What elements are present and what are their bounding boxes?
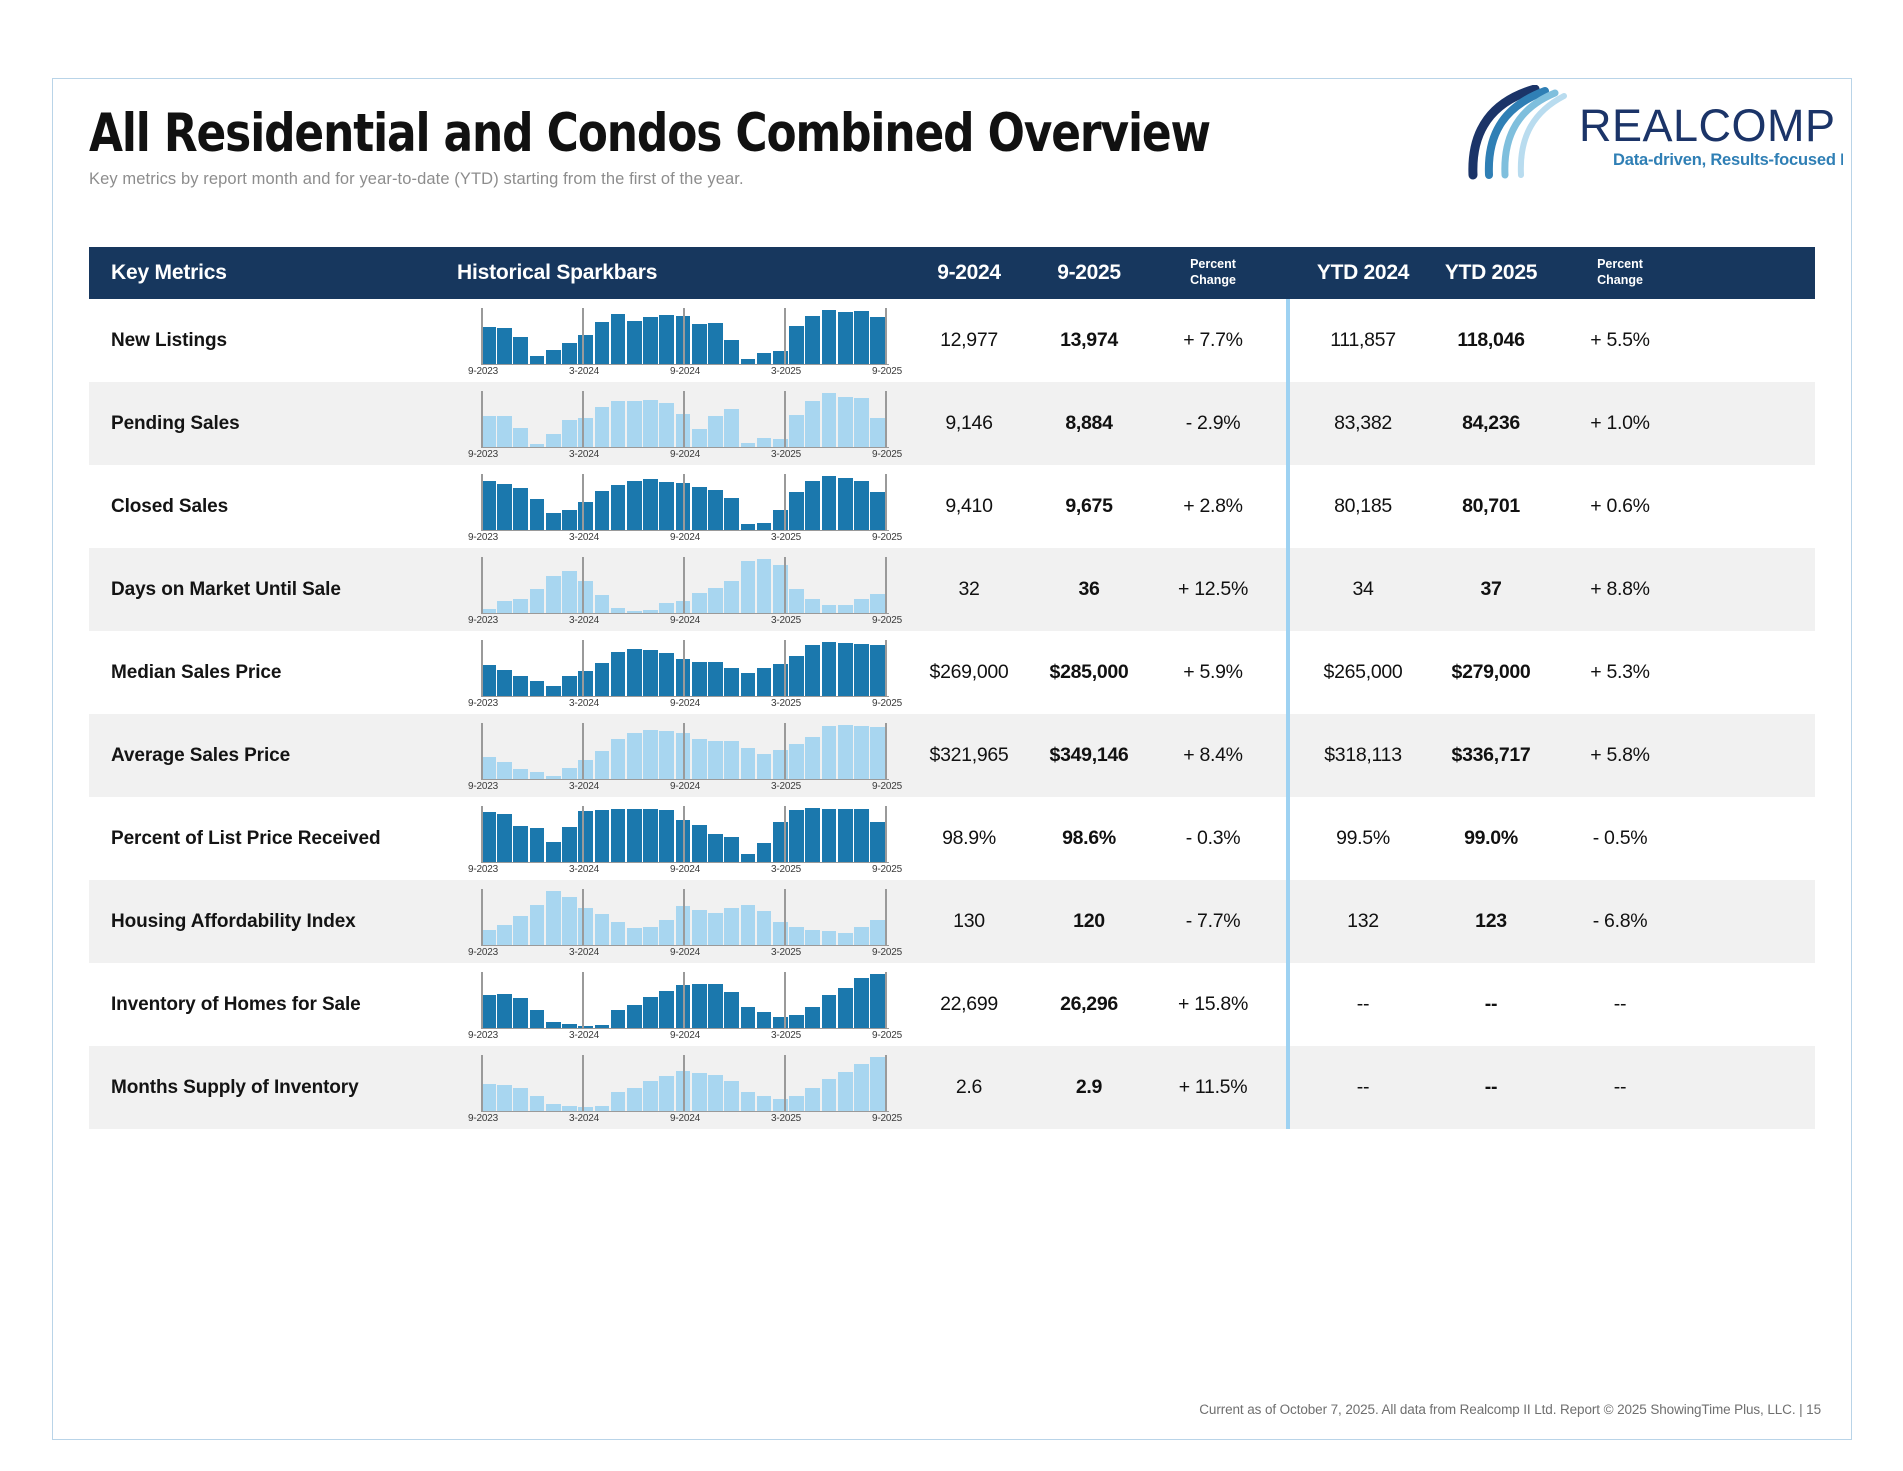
sparkbar-gridline (885, 1055, 887, 1112)
sparkbar-gridline (784, 723, 786, 780)
metric-label: Inventory of Homes for Sale (89, 963, 457, 1046)
sparkbar-bar (805, 401, 820, 447)
sparkbar-gridline (481, 1055, 483, 1112)
sparkbar-bar (497, 814, 512, 862)
sparkbar-axis-label: 9-2024 (670, 698, 700, 709)
sparkbar-bar (513, 488, 528, 530)
sparkbar-bar (643, 479, 658, 530)
ytd-section-divider (1286, 963, 1290, 1046)
sparkbar-axis-labels: 9-20233-20249-20243-20259-2025 (477, 615, 889, 631)
sparkbar-bar (627, 733, 642, 779)
sparkbar-bar (724, 409, 739, 447)
logo-tagline: Data-driven, Results-focused MLS (1613, 151, 1843, 169)
sparkbar-bar (562, 510, 577, 530)
cell-ytd-cur: $336,717 (1427, 714, 1555, 797)
sparkbar-bar (838, 988, 853, 1028)
sparkbar-bar (692, 1073, 707, 1111)
metric-label: New Listings (89, 299, 457, 382)
sparkbar-bar (805, 1007, 820, 1028)
section-gap (1277, 382, 1299, 465)
sparkbar-bar (497, 762, 512, 779)
sparkbar-axis-label: 3-2025 (771, 1030, 801, 1041)
sparkbar-bar (870, 317, 885, 364)
table-row: Inventory of Homes for Sale9-20233-20249… (89, 963, 1815, 1046)
cell-ytd-percent-change: + 0.6% (1555, 465, 1685, 548)
metric-label: Months Supply of Inventory (89, 1046, 457, 1129)
sparkbar-gridline (885, 391, 887, 448)
sparkbar-bar (546, 686, 561, 696)
sparkbar-axis-label: 3-2024 (569, 532, 599, 543)
ytd-section-divider (1286, 714, 1290, 797)
section-gap (1277, 880, 1299, 963)
table-body: New Listings9-20233-20249-20243-20259-20… (89, 299, 1815, 1129)
sparkbar-gridline (683, 972, 685, 1029)
sparkbar-bar (854, 809, 869, 862)
sparkbar-bar (481, 812, 496, 862)
sparkbar-bar (805, 481, 820, 530)
sparkbar-bar (870, 974, 885, 1028)
sparkbar-bar (497, 601, 512, 613)
sparkbar-axis-label: 9-2023 (468, 449, 498, 460)
cell-month-cur: 120 (1029, 880, 1149, 963)
header-ytd-pct-line2: Change (1597, 273, 1643, 289)
sparkbar-axis-label: 3-2024 (569, 698, 599, 709)
sparkbar-chart: 9-20233-20249-20243-20259-2025 (477, 972, 889, 1044)
sparkbar-bar (822, 726, 837, 779)
cell-ytd-prev: 34 (1299, 548, 1427, 631)
cell-month-cur: 98.6% (1029, 797, 1149, 880)
cell-month-percent-change: + 8.4% (1149, 714, 1277, 797)
sparkbar-bar (659, 991, 674, 1028)
sparkbar-bar (497, 994, 512, 1028)
cell-ytd-percent-change: + 5.3% (1555, 631, 1685, 714)
cell-month-percent-change: + 11.5% (1149, 1046, 1277, 1129)
sparkbar-bar (692, 593, 707, 613)
sparkbar-bar (789, 810, 804, 862)
sparkbar-bar (708, 913, 723, 945)
sparkbar-axis-label: 3-2025 (771, 698, 801, 709)
sparkbar-bar (724, 741, 739, 779)
sparkbar-bar (611, 922, 626, 945)
sparkbar-bar (708, 984, 723, 1028)
sparkbar-gridline (582, 806, 584, 863)
sparkbar-bar (562, 827, 577, 862)
sparkbar-bar (757, 353, 772, 364)
cell-ytd-cur: -- (1427, 1046, 1555, 1129)
sparkbar-bar (805, 808, 820, 862)
sparkbar-bar (708, 416, 723, 447)
sparkbar-axis-labels: 9-20233-20249-20243-20259-2025 (477, 449, 889, 465)
sparkbar-chart: 9-20233-20249-20243-20259-2025 (477, 474, 889, 546)
sparkbar-bar (659, 403, 674, 447)
sparkbar-axis-label: 3-2024 (569, 449, 599, 460)
cell-month-prev: $269,000 (909, 631, 1029, 714)
sparkbar-bar (789, 744, 804, 779)
cell-ytd-percent-change: - 0.5% (1555, 797, 1685, 880)
section-gap (1277, 963, 1299, 1046)
sparkbar-axis (481, 530, 889, 532)
sparkbar-bar (578, 581, 593, 613)
sparkbar-bar (513, 998, 528, 1028)
sparkbar-chart: 9-20233-20249-20243-20259-2025 (477, 640, 889, 712)
sparkbar-cell: 9-20233-20249-20243-20259-2025 (457, 299, 909, 382)
ytd-section-divider (1286, 797, 1290, 880)
cell-month-cur: $349,146 (1029, 714, 1149, 797)
section-gap (1277, 714, 1299, 797)
sparkbar-axis-label: 3-2025 (771, 1113, 801, 1124)
sparkbar-gridline (481, 391, 483, 448)
sparkbar-bar (724, 837, 739, 862)
sparkbar-bar (789, 656, 804, 696)
table-row: New Listings9-20233-20249-20243-20259-20… (89, 299, 1815, 382)
cell-month-cur: 8,884 (1029, 382, 1149, 465)
sparkbar-cell: 9-20233-20249-20243-20259-2025 (457, 1046, 909, 1129)
sparkbar-bar (562, 897, 577, 945)
header-gap (1277, 247, 1299, 299)
sparkbar-axis-labels: 9-20233-20249-20243-20259-2025 (477, 1030, 889, 1046)
section-gap (1277, 1046, 1299, 1129)
sparkbar-bar (692, 739, 707, 780)
sparkbar-cell: 9-20233-20249-20243-20259-2025 (457, 714, 909, 797)
sparkbar-gridline (784, 391, 786, 448)
sparkbar-bar (805, 930, 820, 945)
sparkbar-bar (741, 561, 756, 613)
sparkbar-axis-label: 3-2024 (569, 947, 599, 958)
cell-ytd-prev: 132 (1299, 880, 1427, 963)
sparkbar-cell: 9-20233-20249-20243-20259-2025 (457, 548, 909, 631)
cell-month-prev: 130 (909, 880, 1029, 963)
sparkbar-gridline (582, 723, 584, 780)
sparkbar-chart: 9-20233-20249-20243-20259-2025 (477, 391, 889, 463)
sparkbar-bar (757, 1012, 772, 1028)
sparkbar-axis-label: 9-2023 (468, 532, 498, 543)
header-month-pct-line1: Percent (1190, 257, 1236, 273)
sparkbar-bar (530, 905, 545, 945)
sparkbar-bar (578, 502, 593, 530)
sparkbar-bar (595, 663, 610, 696)
sparkbar-chart: 9-20233-20249-20243-20259-2025 (477, 723, 889, 795)
sparkbar-bar (481, 481, 496, 530)
sparkbar-bar (497, 1085, 512, 1111)
sparkbar-bar (822, 476, 837, 530)
sparkbar-bar (578, 335, 593, 364)
sparkbar-bar (724, 1081, 739, 1111)
cell-month-percent-change: - 7.7% (1149, 880, 1277, 963)
sparkbar-axis-label: 3-2024 (569, 1030, 599, 1041)
sparkbar-gridline (481, 308, 483, 365)
sparkbar-bar (530, 589, 545, 613)
header-key-metrics: Key Metrics (89, 247, 457, 299)
sparkbar-bar (822, 931, 837, 945)
sparkbar-axis-label: 9-2023 (468, 1113, 498, 1124)
sparkbar-bar (692, 487, 707, 530)
sparkbar-chart: 9-20233-20249-20243-20259-2025 (477, 308, 889, 380)
sparkbar-bar (822, 310, 837, 364)
sparkbar-axis-label: 3-2025 (771, 615, 801, 626)
sparkbar-axis-label: 3-2024 (569, 781, 599, 792)
sparkbar-axis (481, 1028, 889, 1030)
sparkbar-bar (643, 400, 658, 447)
sparkbar-axis-labels: 9-20233-20249-20243-20259-2025 (477, 864, 889, 880)
sparkbar-bar (562, 571, 577, 613)
sparkbar-bar (513, 826, 528, 862)
sparkbar-bar (530, 681, 545, 696)
sparkbar-axis-label: 3-2024 (569, 1113, 599, 1124)
sparkbar-axis-label: 9-2024 (670, 532, 700, 543)
sparkbar-bar (497, 328, 512, 364)
sparkbar-cell: 9-20233-20249-20243-20259-2025 (457, 880, 909, 963)
sparkbar-bar (724, 498, 739, 530)
sparkbar-gridline (582, 557, 584, 614)
sparkbar-bar (724, 668, 739, 696)
sparkbar-bar (611, 314, 626, 364)
sparkbar-bar (659, 315, 674, 364)
sparkbar-bar (757, 754, 772, 779)
sparkbar-bar (578, 811, 593, 862)
sparkbar-bar (692, 324, 707, 364)
cell-month-percent-change: + 7.7% (1149, 299, 1277, 382)
sparkbar-bar (562, 420, 577, 447)
sparkbar-cell: 9-20233-20249-20243-20259-2025 (457, 797, 909, 880)
sparkbar-bar (757, 559, 772, 613)
sparkbar-bar (870, 645, 885, 696)
sparkbar-gridline (784, 640, 786, 697)
header-month-pct-line2: Change (1190, 273, 1236, 289)
sparkbar-bar (838, 397, 853, 447)
sparkbar-bar (627, 401, 642, 447)
sparkbar-bar (789, 927, 804, 946)
table-row: Months Supply of Inventory9-20233-20249-… (89, 1046, 1815, 1129)
sparkbar-bar (692, 662, 707, 696)
sparkbar-bar (741, 748, 756, 779)
sparkbar-gridline (683, 723, 685, 780)
sparkbar-gridline (784, 557, 786, 614)
sparkbar-axis-label: 9-2024 (670, 1113, 700, 1124)
sparkbar-chart: 9-20233-20249-20243-20259-2025 (477, 1055, 889, 1127)
sparkbar-bar (595, 322, 610, 364)
sparkbar-bar (741, 1092, 756, 1111)
report-page: All Residential and Condos Combined Over… (0, 0, 1903, 1471)
sparkbar-bar (692, 825, 707, 862)
sparkbar-bar (692, 984, 707, 1028)
sparkbar-bar (643, 997, 658, 1028)
sparkbar-axis (481, 945, 889, 947)
ytd-section-divider (1286, 548, 1290, 631)
sparkbar-bar (659, 920, 674, 945)
sparkbar-bar (481, 1084, 496, 1111)
sparkbar-bar (854, 726, 869, 779)
sparkbar-bar (627, 1005, 642, 1028)
metric-label: Percent of List Price Received (89, 797, 457, 880)
sparkbar-gridline (481, 889, 483, 946)
sparkbar-gridline (784, 308, 786, 365)
header-month-cur: 9-2025 (1029, 247, 1149, 299)
cell-month-prev: 2.6 (909, 1046, 1029, 1129)
sparkbar-bar (724, 992, 739, 1028)
sparkbar-bar (805, 599, 820, 613)
sparkbar-axis-label: 9-2025 (872, 615, 902, 626)
sparkbar-bar (481, 757, 496, 780)
sparkbar-bar (627, 481, 642, 530)
logo-arcs-icon (1473, 89, 1564, 175)
sparkbar-bar (546, 434, 561, 447)
ytd-section-divider (1286, 299, 1290, 382)
sparkbar-bar (562, 768, 577, 779)
sparkbar-bar (513, 916, 528, 945)
cell-month-percent-change: + 15.8% (1149, 963, 1277, 1046)
sparkbar-gridline (683, 474, 685, 531)
sparkbar-bar (643, 650, 658, 696)
sparkbar-bar (870, 594, 885, 613)
sparkbar-axis-label: 3-2025 (771, 781, 801, 792)
sparkbar-bar (611, 485, 626, 530)
cell-month-percent-change: + 5.9% (1149, 631, 1277, 714)
sparkbar-bar (870, 492, 885, 530)
sparkbar-gridline (481, 557, 483, 614)
sparkbar-bar (708, 741, 723, 779)
sparkbar-axis-label: 3-2025 (771, 947, 801, 958)
header-month-percent-change: Percent Change (1149, 247, 1277, 299)
sparkbar-bar (627, 321, 642, 364)
cell-month-prev: 12,977 (909, 299, 1029, 382)
sparkbar-bar (643, 927, 658, 946)
sparkbar-bar (854, 311, 869, 364)
sparkbar-bar (741, 673, 756, 696)
sparkbar-bar (838, 725, 853, 779)
sparkbar-bar (708, 323, 723, 364)
table-row: Days on Market Until Sale9-20233-20249-2… (89, 548, 1815, 631)
sparkbar-bar (708, 662, 723, 696)
sparkbar-bar (838, 643, 853, 696)
sparkbar-axis-label: 3-2024 (569, 864, 599, 875)
ytd-section-divider (1286, 382, 1290, 465)
sparkbar-gridline (683, 391, 685, 448)
table-row: Closed Sales9-20233-20249-20243-20259-20… (89, 465, 1815, 548)
cell-ytd-cur: 37 (1427, 548, 1555, 631)
sparkbar-bar (578, 418, 593, 447)
ytd-section-divider (1286, 880, 1290, 963)
sparkbar-bar (854, 644, 869, 696)
sparkbar-bar (822, 393, 837, 447)
sparkbar-axis-label: 9-2025 (872, 532, 902, 543)
header-ytd-prev: YTD 2024 (1299, 247, 1427, 299)
sparkbar-bar (595, 491, 610, 530)
sparkbar-bar (562, 343, 577, 364)
cell-ytd-prev: $318,113 (1299, 714, 1427, 797)
sparkbar-chart: 9-20233-20249-20243-20259-2025 (477, 806, 889, 878)
ytd-section-divider (1286, 1046, 1290, 1129)
cell-ytd-percent-change: + 5.8% (1555, 714, 1685, 797)
sparkbar-gridline (885, 972, 887, 1029)
sparkbar-gridline (784, 889, 786, 946)
sparkbar-axis-label: 9-2023 (468, 781, 498, 792)
sparkbar-axis (481, 447, 889, 449)
sparkbar-axis-labels: 9-20233-20249-20243-20259-2025 (477, 698, 889, 714)
sparkbar-bar (805, 316, 820, 364)
cell-ytd-cur: 123 (1427, 880, 1555, 963)
metric-label: Closed Sales (89, 465, 457, 548)
sparkbar-gridline (582, 972, 584, 1029)
sparkbar-bar (481, 995, 496, 1028)
sparkbar-bar (546, 350, 561, 364)
sparkbar-gridline (784, 474, 786, 531)
sparkbar-axis (481, 779, 889, 781)
sparkbar-bar (481, 327, 496, 364)
sparkbar-bar (481, 416, 496, 447)
cell-ytd-prev: 80,185 (1299, 465, 1427, 548)
sparkbar-gridline (885, 308, 887, 365)
sparkbar-bar (659, 731, 674, 779)
header-ytd-cur: YTD 2025 (1427, 247, 1555, 299)
sparkbar-axis-label: 3-2025 (771, 366, 801, 377)
sparkbar-bar (838, 1072, 853, 1111)
sparkbar-bar (643, 730, 658, 780)
report-footer: Current as of October 7, 2025. All data … (89, 1402, 1821, 1417)
cell-ytd-cur: 84,236 (1427, 382, 1555, 465)
sparkbar-bar (513, 769, 528, 779)
sparkbar-axis-labels: 9-20233-20249-20243-20259-2025 (477, 1113, 889, 1129)
sparkbar-chart: 9-20233-20249-20243-20259-2025 (477, 889, 889, 961)
sparkbar-bar (546, 576, 561, 613)
sparkbar-bar (838, 478, 853, 530)
sparkbar-bar (870, 1057, 885, 1111)
cell-month-cur: 2.9 (1029, 1046, 1149, 1129)
cell-month-prev: 98.9% (909, 797, 1029, 880)
cell-month-cur: 36 (1029, 548, 1149, 631)
sparkbar-bar (805, 645, 820, 696)
metrics-table: Key Metrics Historical Sparkbars 9-2024 … (89, 247, 1815, 1129)
sparkbar-bar (611, 401, 626, 447)
sparkbar-axis-label: 3-2024 (569, 615, 599, 626)
sparkbar-bar (530, 1096, 545, 1111)
sparkbar-gridline (481, 640, 483, 697)
sparkbar-bar (659, 482, 674, 530)
sparkbar-bar (692, 429, 707, 447)
sparkbar-bar (757, 668, 772, 696)
sparkbar-bar (805, 737, 820, 779)
sparkbar-bar (708, 490, 723, 530)
cell-month-prev: 22,699 (909, 963, 1029, 1046)
sparkbar-axis-label: 3-2024 (569, 366, 599, 377)
header-ytd-percent-change: Percent Change (1555, 247, 1685, 299)
table-row: Housing Affordability Index9-20233-20249… (89, 880, 1815, 963)
sparkbar-bar (497, 925, 512, 945)
sparkbar-gridline (885, 474, 887, 531)
metric-label: Housing Affordability Index (89, 880, 457, 963)
sparkbar-axis (481, 696, 889, 698)
sparkbar-bar (789, 1015, 804, 1028)
sparkbar-axis-label: 9-2023 (468, 615, 498, 626)
sparkbar-bar (805, 1088, 820, 1111)
sparkbar-bar (854, 599, 869, 613)
sparkbar-axis-label: 9-2025 (872, 698, 902, 709)
sparkbar-bar (757, 1096, 772, 1111)
sparkbar-bar (789, 326, 804, 364)
cell-ytd-prev: 111,857 (1299, 299, 1427, 382)
sparkbar-axis-label: 9-2023 (468, 947, 498, 958)
cell-month-prev: 32 (909, 548, 1029, 631)
sparkbar-bar (562, 676, 577, 696)
sparkbar-bar (513, 676, 528, 696)
cell-ytd-prev: $265,000 (1299, 631, 1427, 714)
sparkbar-bar (870, 920, 885, 945)
sparkbar-bar (724, 340, 739, 364)
sparkbar-bar (854, 398, 869, 447)
cell-month-prev: 9,146 (909, 382, 1029, 465)
sparkbar-axis-label: 9-2023 (468, 698, 498, 709)
cell-ytd-cur: 80,701 (1427, 465, 1555, 548)
sparkbar-bar (595, 751, 610, 779)
